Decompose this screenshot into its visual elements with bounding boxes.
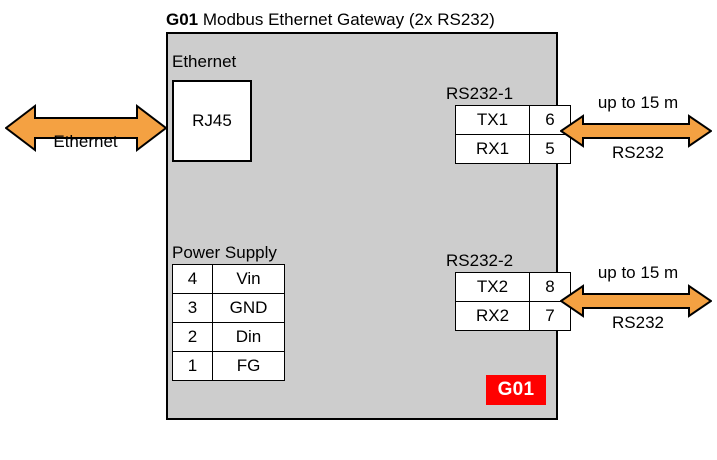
rs232-2-label: RS232-2: [446, 251, 513, 271]
title-description: Modbus Ethernet Gateway (2x RS232): [198, 10, 495, 29]
power-pin-number: 2: [173, 323, 213, 352]
rs232-1-protocol-label: RS232: [568, 143, 708, 163]
power-pin-number: 3: [173, 294, 213, 323]
power-pin-number: 1: [173, 352, 213, 381]
ethernet-section-label: Ethernet: [172, 52, 236, 72]
rj45-port: RJ45: [172, 80, 252, 162]
power-pin-name: FG: [213, 352, 285, 381]
table-row: RX2 7: [456, 302, 571, 331]
rj45-port-label: RJ45: [192, 111, 232, 131]
table-row: RX1 5: [456, 135, 571, 164]
table-row: 1 FG: [173, 352, 285, 381]
table-row: TX2 8: [456, 273, 571, 302]
rs232-1-table: TX1 6 RX1 5: [455, 105, 571, 164]
rs232-1-label: RS232-1: [446, 84, 513, 104]
rs232-1-signal: RX1: [456, 135, 530, 164]
power-supply-table: 4 Vin 3 GND 2 Din 1 FG: [172, 264, 285, 381]
rs232-2-signal: TX2: [456, 273, 530, 302]
power-pin-name: Vin: [213, 265, 285, 294]
table-row: 2 Din: [173, 323, 285, 352]
power-supply-label: Power Supply: [172, 243, 277, 263]
page-title: G01 Modbus Ethernet Gateway (2x RS232): [166, 10, 495, 30]
rs232-2-signal: RX2: [456, 302, 530, 331]
table-row: 3 GND: [173, 294, 285, 323]
rs232-2-protocol-label: RS232: [568, 313, 708, 333]
rs232-2-distance-label: up to 15 m: [568, 263, 708, 283]
rs232-1-signal: TX1: [456, 106, 530, 135]
power-pin-name: Din: [213, 323, 285, 352]
ethernet-connection-label: Ethernet: [8, 132, 163, 152]
table-row: 4 Vin: [173, 265, 285, 294]
power-pin-name: GND: [213, 294, 285, 323]
diagram-canvas: G01 Modbus Ethernet Gateway (2x RS232) E…: [0, 0, 717, 460]
title-model: G01: [166, 10, 198, 29]
status-badge: G01: [486, 375, 546, 405]
rs232-2-table: TX2 8 RX2 7: [455, 272, 571, 331]
table-row: TX1 6: [456, 106, 571, 135]
badge-label: G01: [498, 379, 535, 401]
rs232-1-distance-label: up to 15 m: [568, 93, 708, 113]
power-pin-number: 4: [173, 265, 213, 294]
